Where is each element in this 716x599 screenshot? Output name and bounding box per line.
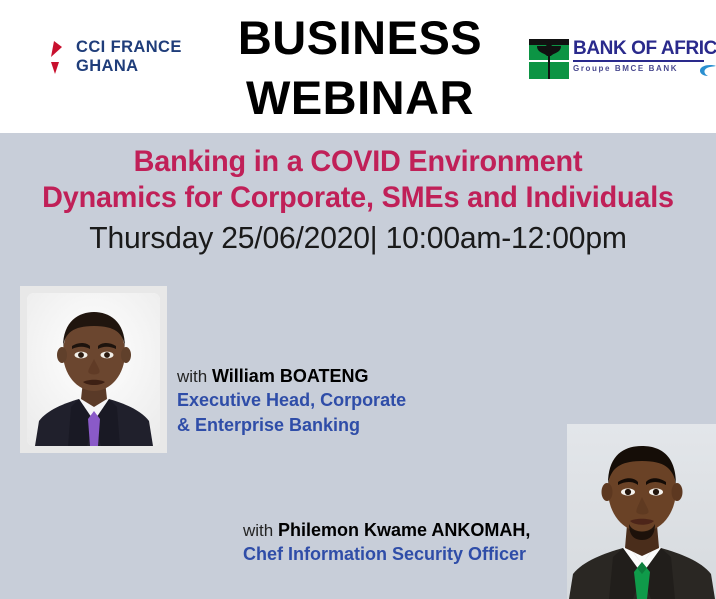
boa-logo-subtitle: Groupe BMCE BANK bbox=[573, 64, 705, 73]
speaker-2-details: with Philemon Kwame ANKOMAH, Chef Inform… bbox=[243, 519, 583, 567]
webinar-poster: CCI FRANCE GHANA BUSINESS WEBINAR BANK O bbox=[0, 0, 716, 599]
speaker-2-with-label: with bbox=[243, 521, 278, 540]
boa-swoosh-icon bbox=[699, 64, 716, 77]
boa-logo-divider bbox=[573, 60, 704, 62]
cci-circle-icon bbox=[18, 34, 70, 86]
speaker-1-photo-frame bbox=[20, 286, 167, 453]
session-title-line1: Banking in a COVID Environment bbox=[14, 144, 701, 180]
session-title-block: Banking in a COVID Environment Dynamics … bbox=[0, 144, 716, 258]
speaker-1-role-line2: & Enterprise Banking bbox=[177, 413, 507, 438]
cci-logo-text: CCI FRANCE GHANA bbox=[76, 38, 182, 76]
cci-logo-line2: GHANA bbox=[76, 57, 182, 76]
speaker-2-photo bbox=[567, 424, 716, 599]
session-datetime: Thursday 25/06/2020| 10:00am-12:00pm bbox=[11, 218, 706, 258]
baobab-tree-icon bbox=[529, 39, 569, 79]
event-type-title: BUSINESS WEBINAR bbox=[195, 8, 525, 128]
cci-france-ghana-logo: CCI FRANCE GHANA bbox=[18, 32, 208, 94]
speaker-1-details: with William BOATENG Executive Head, Cor… bbox=[177, 365, 507, 438]
speaker-2-name: Philemon Kwame ANKOMAH, bbox=[278, 520, 530, 540]
boa-logo-text: BANK OF AFRICA Groupe BMCE BANK bbox=[573, 38, 705, 73]
event-type-line2: WEBINAR bbox=[195, 68, 525, 128]
boa-logo-title: BANK OF AFRICA bbox=[573, 38, 705, 59]
speaker-2-role-line1: Chef Information Security Officer bbox=[243, 542, 583, 567]
speaker-2-name-line: with Philemon Kwame ANKOMAH, bbox=[243, 519, 583, 542]
header-band: CCI FRANCE GHANA BUSINESS WEBINAR BANK O bbox=[0, 0, 716, 133]
portrait-william-boateng-illustration bbox=[27, 293, 160, 446]
speaker-1-name: William BOATENG bbox=[212, 366, 369, 386]
speaker-1-with-label: with bbox=[177, 367, 212, 386]
session-title-line2: Dynamics for Corporate, SMEs and Individ… bbox=[14, 180, 701, 216]
bank-of-africa-logo: BANK OF AFRICA Groupe BMCE BANK bbox=[529, 38, 705, 84]
speaker-1-name-line: with William BOATENG bbox=[177, 365, 507, 388]
portrait-philemon-ankomah-illustration bbox=[567, 424, 716, 599]
event-type-line1: BUSINESS bbox=[195, 8, 525, 68]
speaker-1-photo bbox=[27, 293, 160, 446]
speaker-1-role-line1: Executive Head, Corporate bbox=[177, 388, 507, 413]
cci-logo-line1: CCI FRANCE bbox=[76, 38, 182, 57]
